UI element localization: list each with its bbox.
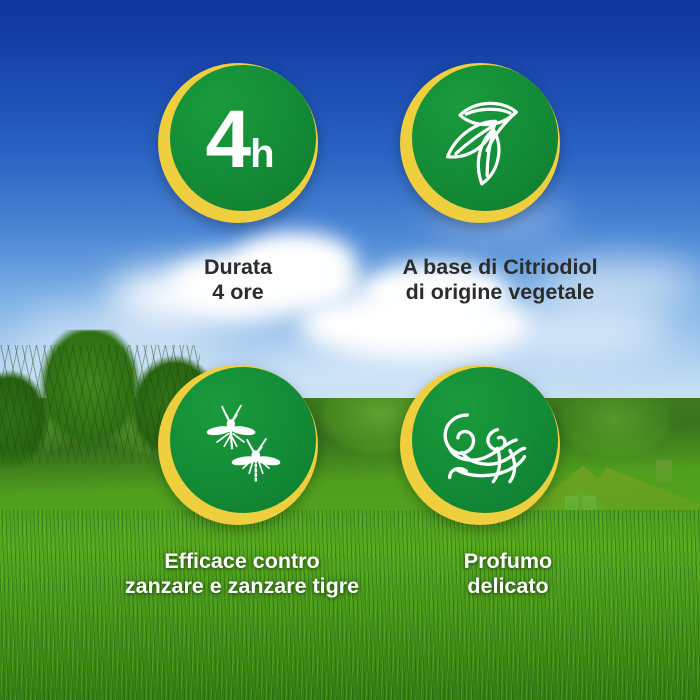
duration-unit: h — [250, 134, 272, 174]
duration-value: 4h — [205, 99, 272, 181]
badge-disc: 4h — [170, 65, 316, 211]
duration-number: 4 — [205, 99, 249, 181]
badge-disc — [170, 367, 316, 513]
badge-mosquito[interactable] — [158, 365, 318, 525]
badge-disc — [412, 65, 558, 211]
badge-disc — [412, 367, 558, 513]
caption-scent: Profumo delicato — [408, 549, 608, 600]
grass-meadow — [0, 510, 700, 700]
infographic-canvas: 4h — [0, 0, 700, 700]
badge-citriodiol[interactable] — [400, 63, 560, 223]
badge-duration[interactable]: 4h — [158, 63, 318, 223]
caption-citriodiol: A base di Citriodiol di origine vegetale — [350, 255, 650, 306]
badge-scent[interactable] — [400, 365, 560, 525]
caption-duration: Durata 4 ore — [138, 255, 338, 306]
caption-mosquito: Efficace contro zanzare e zanzare tigre — [78, 549, 406, 600]
leaf-icon — [433, 86, 537, 190]
wind-swirl-icon — [433, 388, 537, 492]
mosquito-icon — [191, 388, 295, 492]
cloud-shape — [470, 300, 670, 360]
